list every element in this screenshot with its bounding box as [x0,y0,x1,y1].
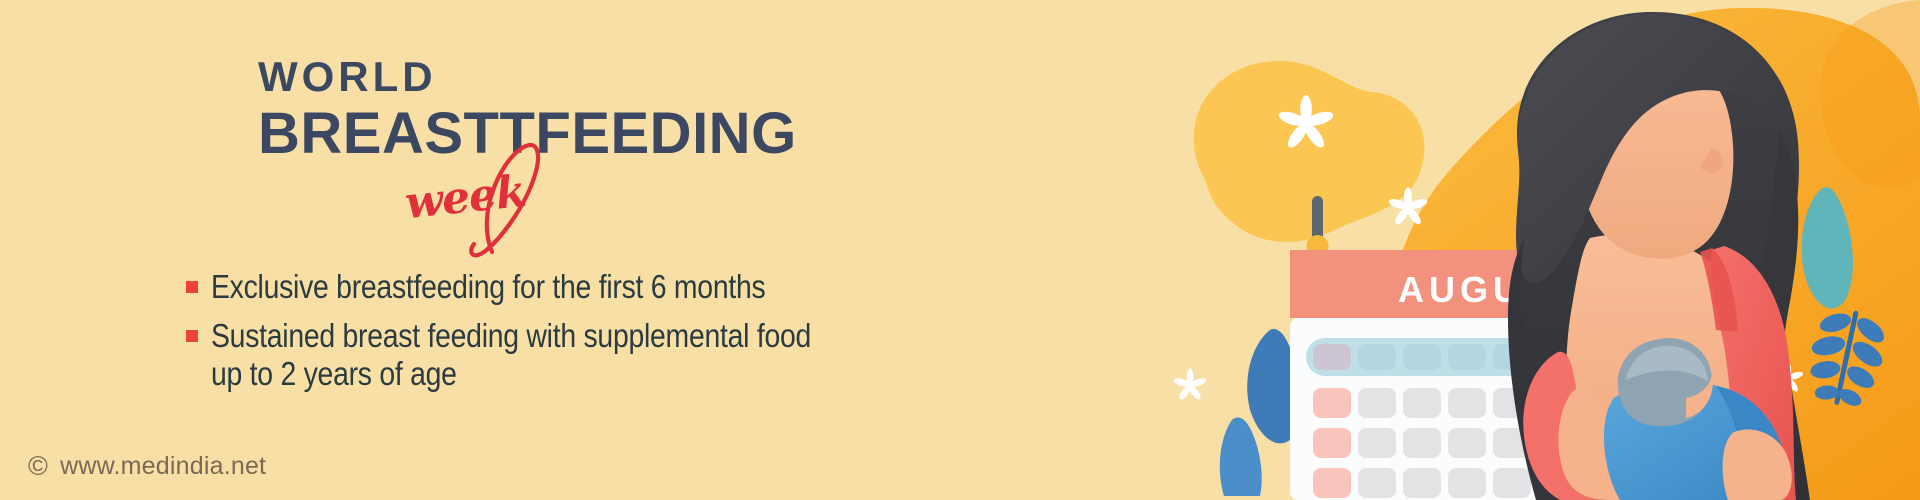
world-breastfeeding-week-banner: AUGUST [0,0,1920,500]
bullet-marker-icon [186,330,198,342]
headline-breastfeeding: BREASTTFEEDING [258,104,958,165]
bullet-list: Exclusive breastfeeding for the first 6 … [186,268,1026,404]
illustration-panel: AUGUST [1120,0,1920,500]
headline-script-week: week [403,166,528,229]
mother-and-baby-illustration [1508,12,1810,500]
headline-group: WORLD BREASTTFEEDING [258,56,958,165]
footer-credit: © www.medindia.net [28,452,266,481]
bullet-text: Sustained breast feeding with supplement… [211,317,811,394]
list-item: Exclusive breastfeeding for the first 6 … [186,268,1026,307]
list-item: Sustained breast feeding with supplement… [186,317,1026,394]
text-content-block: WORLD BREASTTFEEDING week Exclusive brea… [0,0,1060,500]
website-url: www.medindia.net [60,452,266,481]
bullet-marker-icon [186,281,198,293]
copyright-icon: © [28,453,48,480]
bullet-text: Exclusive breastfeeding for the first 6 … [211,268,765,307]
headline-world: WORLD [258,56,958,98]
